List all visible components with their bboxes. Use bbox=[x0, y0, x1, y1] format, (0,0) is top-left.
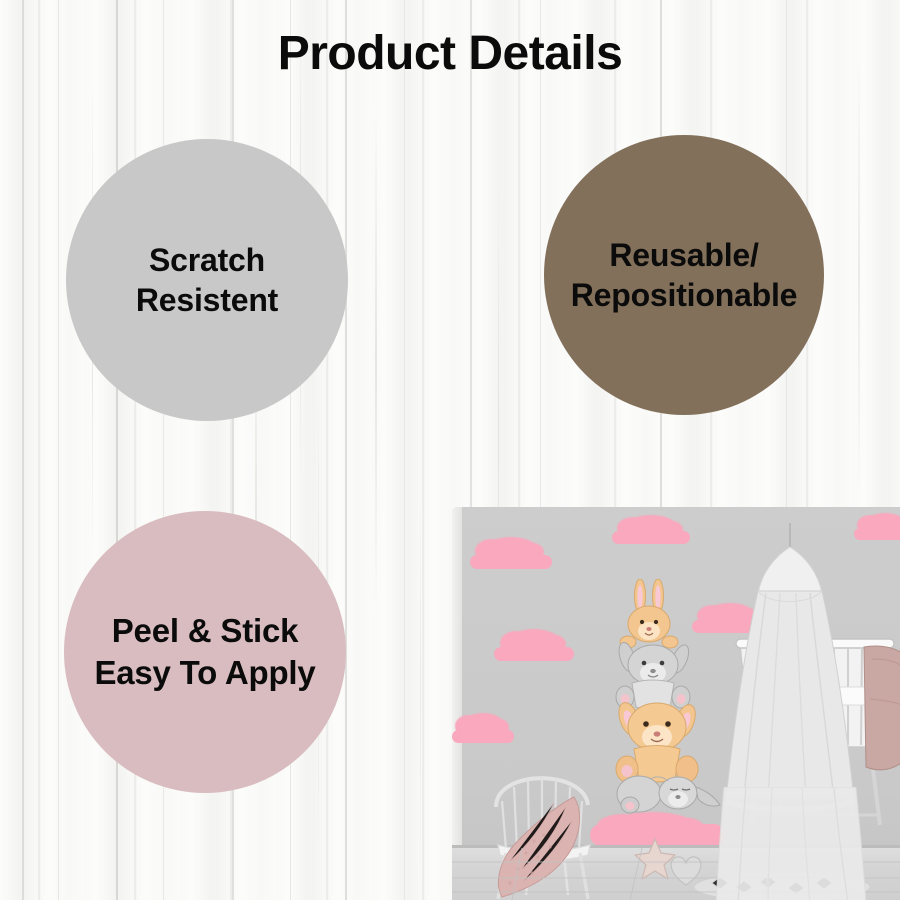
photo-wall-edge bbox=[452, 507, 462, 900]
feature-badge-peel-and-stick-label: Peel & Stick Easy To Apply bbox=[64, 610, 346, 693]
feature-badge-scratch-resistent-label: Scratch Resistent bbox=[66, 240, 348, 321]
crib-blanket bbox=[860, 643, 900, 783]
feature-badge-scratch-resistent: Scratch Resistent bbox=[66, 139, 348, 421]
pink-cloud-decal bbox=[612, 515, 690, 545]
feature-badge-peel-and-stick: Peel & Stick Easy To Apply bbox=[64, 511, 346, 793]
bunny-stack-decal bbox=[592, 579, 727, 829]
pink-cloud-decal bbox=[494, 629, 574, 663]
pink-cloud-decal bbox=[452, 713, 514, 745]
canopy-skirt bbox=[710, 787, 880, 900]
nursery-room-photo bbox=[452, 507, 900, 900]
pink-cloud-decal bbox=[470, 537, 552, 571]
canopy bbox=[710, 523, 870, 823]
feature-badge-reusable-repositionable-label: Reusable/ Repositionable bbox=[544, 235, 824, 316]
page-title: Product Details bbox=[0, 26, 900, 81]
product-details-canvas: Product Details Scratch Resistent Reusab… bbox=[0, 0, 900, 900]
feature-badge-reusable-repositionable: Reusable/ Repositionable bbox=[544, 135, 824, 415]
